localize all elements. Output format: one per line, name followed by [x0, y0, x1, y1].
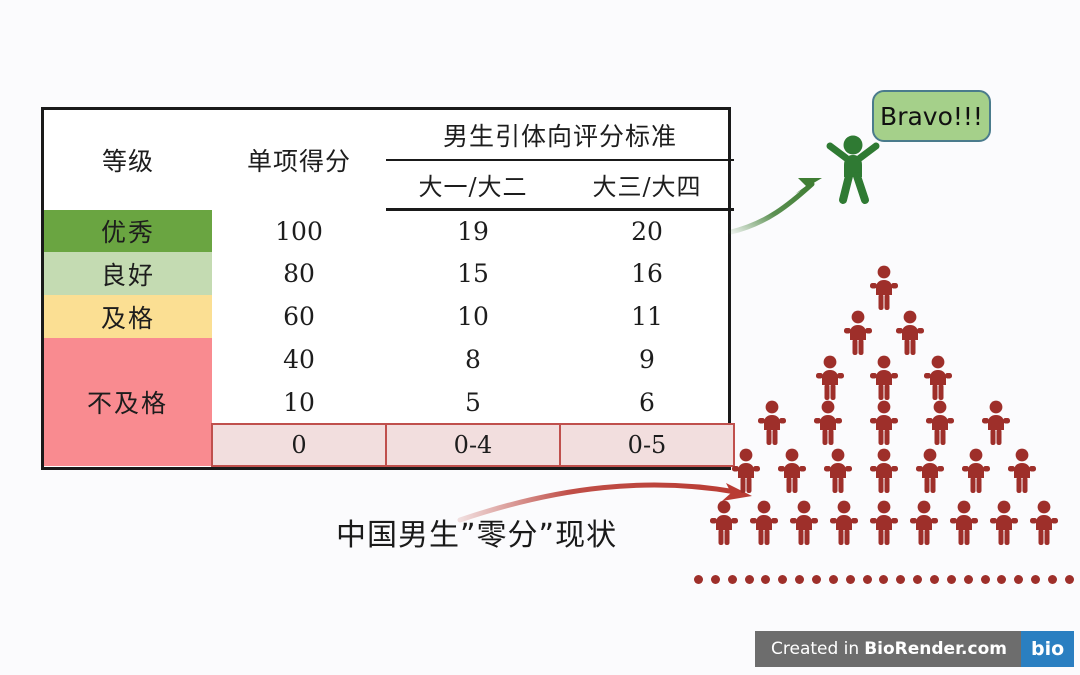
crowd-row — [869, 265, 899, 311]
cell-year34: 11 — [560, 295, 734, 338]
dot — [930, 575, 939, 584]
crowd-row — [815, 355, 953, 401]
grading-table: 等级 单项得分 男生引体向评分标准 大一/大二 大三/大四 优秀 100 19 … — [41, 107, 731, 470]
dot — [981, 575, 990, 584]
caption-zero-score-reality: 中国男生”零分”现状 — [336, 510, 617, 554]
crowd-row — [709, 500, 1059, 546]
dot — [829, 575, 838, 584]
crowd-row — [843, 310, 925, 356]
dot — [846, 575, 855, 584]
dot — [863, 575, 872, 584]
dot — [812, 575, 821, 584]
dot — [896, 575, 905, 584]
dot — [778, 575, 787, 584]
watermark-text: Created inBioRender.com — [755, 631, 1021, 667]
cell-year12: 15 — [386, 252, 560, 295]
grade-cell-pass: 及格 — [44, 295, 212, 338]
header-sub-year34: 大三/大四 — [560, 160, 734, 210]
watermark-brand: BioRender.com — [864, 639, 1007, 659]
dotted-continuation-line — [694, 572, 1074, 586]
cell-score-zero: 0 — [212, 424, 386, 466]
cell-year12-zero: 0-4 — [386, 424, 560, 466]
header-sub-year12: 大一/大二 — [386, 160, 560, 210]
biorender-watermark: Created inBioRender.com bio — [755, 631, 1074, 667]
crowd-row — [731, 448, 1037, 494]
cell-score: 40 — [212, 338, 386, 381]
dot — [795, 575, 804, 584]
dot — [745, 575, 754, 584]
dot — [947, 575, 956, 584]
bravo-label: Bravo!!! — [880, 102, 983, 131]
cell-score: 60 — [212, 295, 386, 338]
dot — [1031, 575, 1040, 584]
cell-score: 100 — [212, 210, 386, 253]
biorender-logo-icon: bio — [1021, 631, 1074, 667]
table-row: 良好 80 15 16 — [44, 252, 734, 295]
dot — [694, 575, 703, 584]
green-arrow-to-hero — [731, 178, 822, 232]
crowd-row — [757, 400, 1011, 446]
grade-cell-fail: 不及格 — [44, 338, 212, 466]
cell-year12: 5 — [386, 381, 560, 424]
celebrating-person-icon — [822, 134, 884, 211]
dot — [1048, 575, 1057, 584]
table-header-row-top: 等级 单项得分 男生引体向评分标准 — [44, 110, 734, 160]
grade-cell-excellent: 优秀 — [44, 210, 212, 253]
header-score: 单项得分 — [212, 110, 386, 210]
dot — [997, 575, 1006, 584]
cell-year34: 6 — [560, 381, 734, 424]
cell-year34: 9 — [560, 338, 734, 381]
cell-year12: 19 — [386, 210, 560, 253]
dot — [913, 575, 922, 584]
dot — [1014, 575, 1023, 584]
cell-year34: 16 — [560, 252, 734, 295]
cell-year34-zero: 0-5 — [560, 424, 734, 466]
dot — [728, 575, 737, 584]
grade-cell-good: 良好 — [44, 252, 212, 295]
dot — [964, 575, 973, 584]
cell-year12: 8 — [386, 338, 560, 381]
dot — [761, 575, 770, 584]
cell-year34: 20 — [560, 210, 734, 253]
bravo-speech-bubble: Bravo!!! — [872, 90, 991, 142]
header-group-title: 男生引体向评分标准 — [386, 110, 734, 160]
dot — [711, 575, 720, 584]
cell-year12: 10 — [386, 295, 560, 338]
watermark-prefix: Created in — [771, 639, 859, 659]
table-row: 优秀 100 19 20 — [44, 210, 734, 253]
dot — [879, 575, 888, 584]
cell-score: 80 — [212, 252, 386, 295]
header-grade: 等级 — [44, 110, 212, 210]
cell-score: 10 — [212, 381, 386, 424]
dot — [1065, 575, 1074, 584]
table-row: 及格 60 10 11 — [44, 295, 734, 338]
table-row: 不及格 40 8 9 — [44, 338, 734, 381]
